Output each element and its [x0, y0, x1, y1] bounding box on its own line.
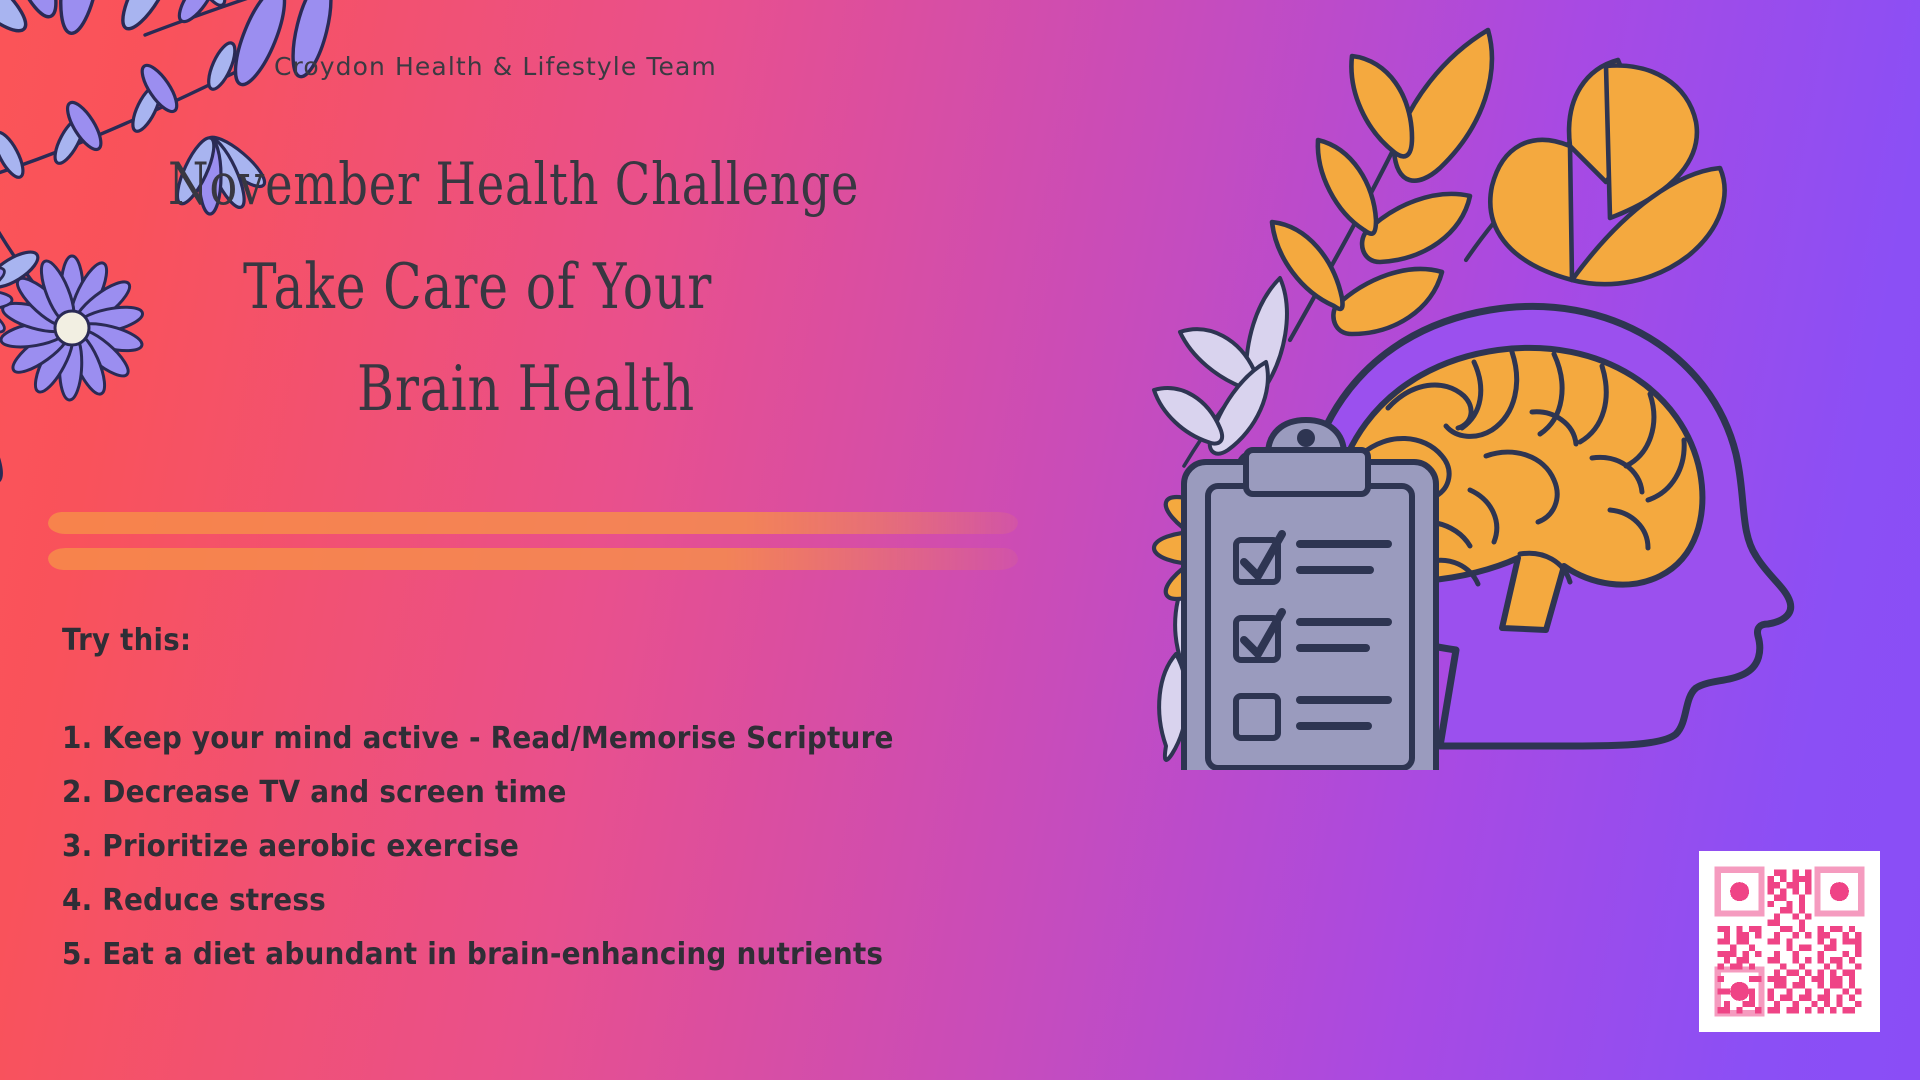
tip-item-4: 4. Reduce stress: [62, 874, 1048, 928]
clipboard-row-3: [1236, 696, 1388, 738]
brush-underline-top: [48, 512, 1018, 534]
qr-code-graphic: [1699, 851, 1880, 1032]
tip-item-3: 3. Prioritize aerobic exercise: [62, 820, 1048, 874]
tips-list: 1. Keep your mind active - Read/Memorise…: [62, 712, 1122, 982]
brush-underline-bottom: [48, 548, 1018, 570]
leaf-branch-orange: [1272, 30, 1492, 340]
clipboard-icon: [1184, 420, 1436, 770]
leaf-sprig-lavender-upper: [1154, 278, 1287, 466]
daisy-orange-icon: [1154, 454, 1342, 724]
leaf-sprig-lavender-lower: [1159, 490, 1226, 760]
headline-line-3: Brain Health: [357, 352, 695, 425]
clipboard-row-1: [1236, 534, 1388, 582]
head-silhouette: [1304, 306, 1791, 746]
brand-name: Croydon Health & Lifestyle Team: [274, 52, 717, 81]
headline-line-1: November Health Challenge: [168, 150, 859, 218]
clipboard-row-2: [1236, 612, 1388, 660]
brain-health-illustration: [1140, 10, 1880, 770]
qr-code[interactable]: [1699, 851, 1880, 1032]
headline-line-2: Take Care of Your: [243, 250, 712, 323]
tip-item-5: 5. Eat a diet abundant in brain-enhancin…: [62, 928, 1048, 982]
poster-canvas: Croydon Health & Lifestyle Team November…: [0, 0, 1920, 1080]
brain-icon: [1332, 348, 1702, 630]
text-column: Croydon Health & Lifestyle Team November…: [0, 0, 1160, 1080]
try-this-label: Try this:: [62, 623, 191, 658]
tip-item-2: 2. Decrease TV and screen time: [62, 766, 1048, 820]
tulip-icon: [1466, 60, 1725, 284]
tip-item-1: 1. Keep your mind active - Read/Memorise…: [62, 712, 1048, 766]
